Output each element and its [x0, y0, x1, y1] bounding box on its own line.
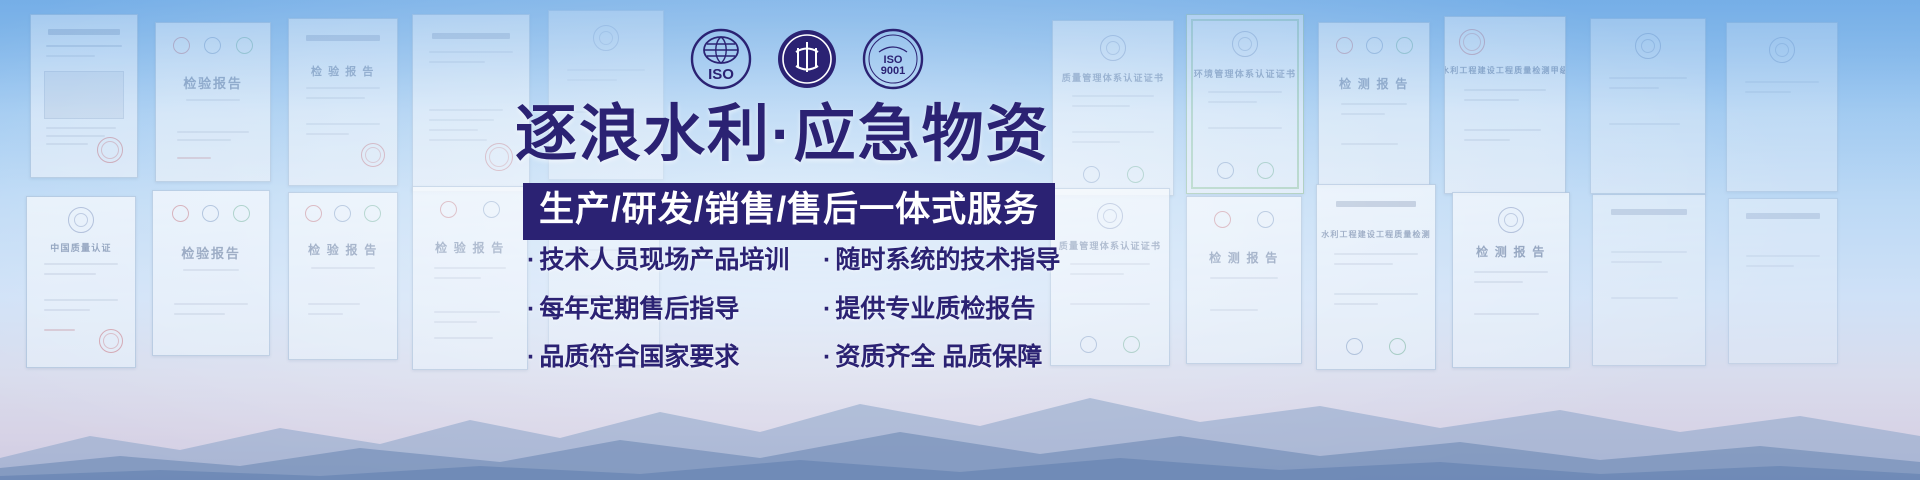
- feature-label: 资质齐全 品质保障: [835, 343, 1042, 371]
- feature-item: ·品质符合国家要求: [527, 342, 807, 373]
- bullet-icon: ·: [527, 295, 535, 323]
- subtitle-bar: 生产/研发/销售/售后一体式服务: [523, 183, 1055, 240]
- feature-item: ·资质齐全 品质保障: [823, 342, 1060, 373]
- feature-label: 技术人员现场产品培训: [539, 246, 789, 274]
- feature-label: 每年定期售后指导: [539, 295, 739, 323]
- bullet-icon: ·: [823, 246, 831, 274]
- feature-item: ·提供专业质检报告: [823, 294, 1060, 325]
- page-title: 逐浪水利·应急物资: [515, 104, 1050, 166]
- promo-banner: 检验报告 检 验 报 告: [0, 0, 1920, 480]
- feature-item: ·随时系统的技术指导: [823, 245, 1060, 276]
- feature-item: ·技术人员现场产品培训: [527, 245, 807, 276]
- bullet-icon: ·: [823, 343, 831, 371]
- feature-label: 随时系统的技术指导: [835, 246, 1060, 274]
- banner-text-block: 逐浪水利·应急物资 生产/研发/销售/售后一体式服务 ·技术人员现场产品培训 ·…: [0, 0, 1920, 480]
- bullet-icon: ·: [527, 246, 535, 274]
- subtitle-text: 生产/研发/销售/售后一体式服务: [539, 192, 1039, 229]
- feature-label: 提供专业质检报告: [835, 295, 1035, 323]
- bullet-icon: ·: [527, 343, 535, 371]
- feature-label: 品质符合国家要求: [539, 343, 739, 371]
- feature-list: ·技术人员现场产品培训 ·随时系统的技术指导 ·每年定期售后指导 ·提供专业质检…: [527, 245, 1060, 373]
- feature-item: ·每年定期售后指导: [527, 294, 807, 325]
- bullet-icon: ·: [823, 295, 831, 323]
